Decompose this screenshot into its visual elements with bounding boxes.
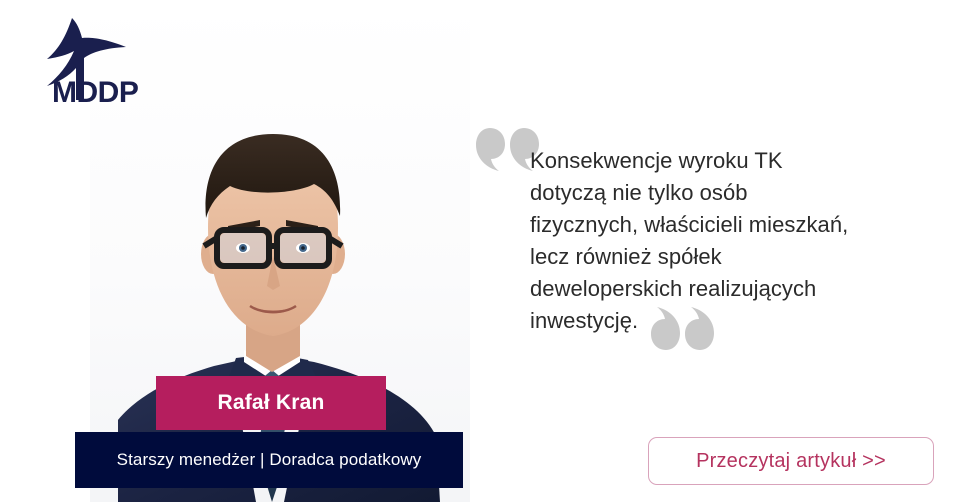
quote-card: MDDP [0, 0, 960, 502]
quote-text: Konsekwencje wyroku TK dotyczą nie tylko… [530, 145, 930, 337]
mddp-bird-swoosh-icon: MDDP [14, 12, 144, 104]
quote-line: inwestycję. [530, 305, 930, 337]
quote-line: lecz również spółek [530, 241, 930, 273]
read-article-button[interactable]: Przeczytaj artykuł >> [648, 437, 934, 485]
mddp-logo[interactable]: MDDP [14, 12, 144, 104]
person-name: Rafał Kran [217, 391, 324, 415]
svg-text:MDDP: MDDP [52, 76, 138, 104]
person-title: Starszy menedżer | Doradca podatkowy [117, 450, 422, 470]
read-article-button-label: Przeczytaj artykuł >> [696, 450, 886, 473]
quote-line: deweloperskich realizujących [530, 273, 930, 305]
person-title-plate: Starszy menedżer | Doradca podatkowy [75, 432, 463, 488]
quote-line: Konsekwencje wyroku TK [530, 145, 930, 177]
person-name-plate: Rafał Kran [156, 376, 386, 430]
quote-line: fizycznych, właścicieli mieszkań, [530, 209, 930, 241]
quote-line: dotyczą nie tylko osób [530, 177, 930, 209]
